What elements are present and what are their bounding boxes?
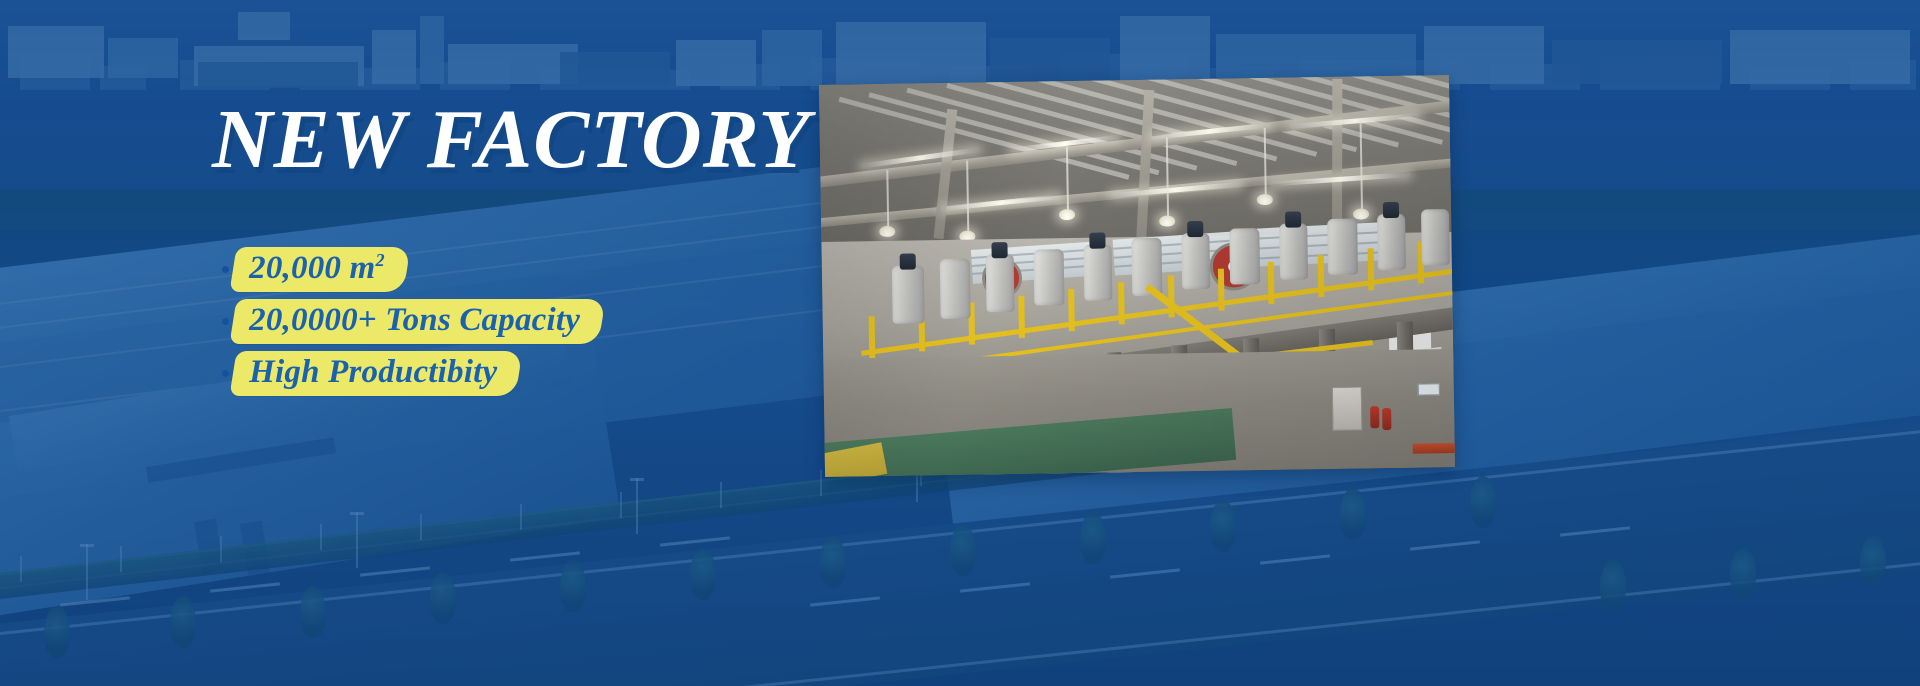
fire-extinguisher-icon <box>1382 408 1391 430</box>
factory-interior-photo <box>819 75 1455 477</box>
agitator-motor <box>1383 202 1399 218</box>
agitator-motor <box>991 242 1007 258</box>
equipment-label <box>1418 383 1440 395</box>
reactor-vessel <box>986 254 1015 312</box>
feature-badge-item: High Productibity <box>222 348 602 398</box>
fire-extinguisher-icon <box>1370 406 1379 428</box>
feature-badge-item: 20,000 m2 <box>222 244 602 294</box>
control-cabinet <box>1332 386 1363 430</box>
pendant-lamp-icon <box>1257 194 1273 205</box>
reactor-vessel <box>1421 209 1450 265</box>
reactor-vessel <box>1181 233 1210 289</box>
badge-capacity: 20,0000+ Tons Capacity <box>229 299 605 344</box>
reactor-vessel <box>1229 228 1260 284</box>
feature-badge-list: 20,000 m2 20,0000+ Tons Capacity High Pr… <box>222 244 602 400</box>
reactor-vessel <box>940 259 971 319</box>
reactor-vessel <box>1084 244 1113 300</box>
new-factory-banner: NEW FACTORY 20,000 m2 20,0000+ Tons Capa… <box>0 0 1920 686</box>
reactor-vessel <box>1327 219 1358 275</box>
reactor-vessel <box>892 265 925 323</box>
bullet-dot-icon <box>222 370 229 377</box>
pallet <box>1413 443 1455 454</box>
agitator-motor <box>900 253 916 269</box>
pendant-lamp-icon <box>879 226 895 237</box>
feature-badge-item: 20,0000+ Tons Capacity <box>222 296 602 346</box>
bullet-dot-icon <box>222 318 229 325</box>
pendant-lamp-icon <box>1159 215 1175 226</box>
pendant-lamp-icon <box>1059 209 1075 220</box>
pendant-lamp-icon <box>1353 208 1369 219</box>
badge-productivity-label: High Productibity <box>249 354 497 391</box>
badge-area: 20,000 m2 <box>229 247 410 292</box>
reactor-vessel <box>1279 223 1308 279</box>
bullet-dot-icon <box>222 266 229 273</box>
agitator-motor <box>1285 211 1301 227</box>
badge-productivity: High Productibity <box>229 351 522 396</box>
reactor-vessel <box>1377 214 1406 270</box>
roof-cross-beam <box>1332 79 1342 239</box>
agitator-motor <box>1089 232 1105 248</box>
page-title: NEW FACTORY <box>212 98 811 182</box>
reactor-vessel <box>1034 249 1065 305</box>
badge-capacity-label: 20,0000+ Tons Capacity <box>249 302 580 339</box>
agitator-motor <box>1187 221 1203 237</box>
badge-area-label: 20,000 m2 <box>249 250 385 287</box>
